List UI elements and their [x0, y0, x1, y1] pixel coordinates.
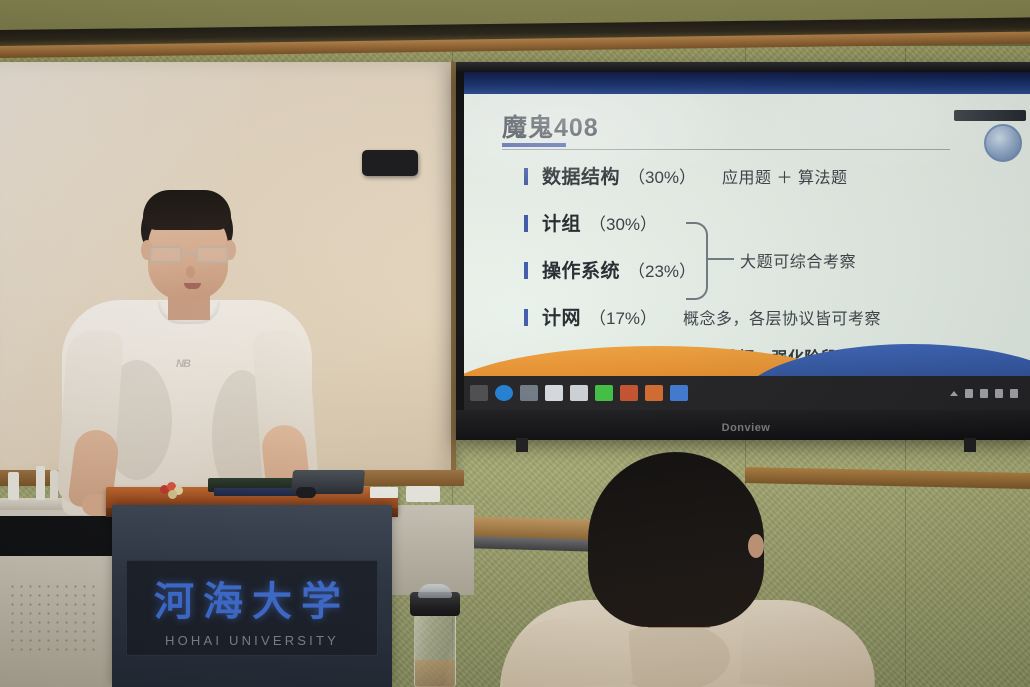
bullet-mark-icon — [524, 309, 528, 326]
bullet-mark-icon — [524, 262, 528, 279]
window-icon[interactable] — [670, 385, 688, 401]
photos-icon[interactable] — [545, 385, 563, 401]
slide-title: 魔鬼408 — [502, 108, 599, 144]
grouping-brace-tail — [708, 258, 734, 260]
list-item: 计组 （30%） — [524, 209, 1010, 236]
tray-clock-icon[interactable] — [1010, 389, 1018, 398]
list-item: 数据结构 （30%） 应用题 ＋ 算法题 — [524, 162, 1010, 189]
bullet-subject: 数据结构 — [542, 162, 620, 189]
screen: 魔鬼408 数据结构 （30%） 应用题 ＋ 算法题 计组 — [464, 72, 1030, 410]
bullet-mark-icon — [524, 215, 528, 232]
bullet-note: 应用题 ＋ 算法题 — [722, 164, 847, 188]
classroom-photo: 魔鬼408 数据结构 （30%） 应用题 ＋ 算法题 计组 — [0, 0, 1030, 687]
system-tray[interactable] — [950, 389, 1024, 398]
bullet-note: 概念多，各层协议皆可考察 — [683, 305, 881, 329]
bullet-subject: 计组 — [542, 209, 581, 236]
display-panel: 魔鬼408 数据结构 （30%） 应用题 ＋ 算法题 计组 — [464, 72, 1030, 410]
brace-annotation: 大题可综合考察 — [740, 248, 856, 272]
tray-caret-icon[interactable] — [950, 391, 958, 396]
student-ear — [748, 534, 764, 558]
windows-taskbar[interactable] — [464, 376, 1030, 410]
lens-left — [149, 246, 182, 263]
cabinet-recess — [0, 516, 112, 556]
shirt-logo: NB — [176, 358, 198, 371]
cabinet-speaker-grille — [8, 582, 100, 657]
display-stand-left — [516, 438, 528, 452]
tray-battery-icon[interactable] — [995, 389, 1003, 398]
tray-volume-icon[interactable] — [965, 389, 973, 398]
title-underline — [502, 143, 566, 147]
paper-sheet — [370, 487, 398, 498]
university-name-en: HOHAI UNIVERSITY — [165, 633, 339, 648]
presenter-nose — [186, 266, 195, 278]
bullet-subject: 计网 — [542, 303, 581, 330]
bullet-subject: 操作系统 — [542, 256, 620, 283]
right-side-cabinet — [392, 505, 474, 595]
powerpoint-icon[interactable] — [620, 385, 638, 401]
display-chin: Donview — [456, 410, 1030, 440]
cabinet-top-item — [406, 486, 440, 502]
mouse — [296, 487, 316, 498]
bottle-lid — [418, 584, 452, 598]
university-name-cn: 河海大学 — [154, 569, 350, 627]
podium-nameplate: 河海大学 HOHAI UNIVERSITY — [126, 560, 378, 656]
file-explorer-icon[interactable] — [520, 385, 538, 401]
university-seal-icon — [984, 124, 1022, 162]
presenter-hair-front — [143, 190, 231, 230]
title-divider — [502, 149, 950, 150]
marker-item — [36, 466, 45, 500]
tray-network-icon[interactable] — [980, 389, 988, 398]
screen-top-bar — [464, 72, 1030, 94]
student-head — [588, 452, 764, 627]
recorder-icon[interactable] — [645, 385, 663, 401]
wechat-icon[interactable] — [595, 385, 613, 401]
display-brand-label: Donview — [722, 422, 771, 434]
display-bezel — [456, 62, 1030, 72]
bullet-percent: （30%） — [589, 210, 657, 235]
interactive-display[interactable]: 魔鬼408 数据结构 （30%） 应用题 ＋ 算法题 计组 — [456, 62, 1030, 440]
lens-right — [196, 246, 229, 263]
glasses-bridge — [184, 253, 196, 255]
bottle-contents — [415, 660, 455, 687]
eyeglasses — [147, 246, 231, 264]
bullet-percent: （17%） — [589, 304, 657, 329]
grouping-brace — [686, 222, 708, 300]
start-icon[interactable] — [470, 385, 488, 401]
display-stand-right — [964, 438, 976, 452]
whiteboard-eraser — [362, 150, 418, 176]
marker-item — [8, 472, 19, 500]
list-item: 计网 （17%） 概念多，各层协议皆可考察 — [524, 303, 1010, 330]
browser-icon[interactable] — [495, 385, 513, 401]
seal-caption — [954, 110, 1026, 121]
desk-flower — [160, 482, 186, 498]
camera-icon[interactable] — [570, 385, 588, 401]
bullet-mark-icon — [524, 168, 528, 185]
powerpoint-slide[interactable]: 魔鬼408 数据结构 （30%） 应用题 ＋ 算法题 计组 — [464, 94, 1030, 376]
bullet-percent: （30%） — [628, 163, 696, 188]
